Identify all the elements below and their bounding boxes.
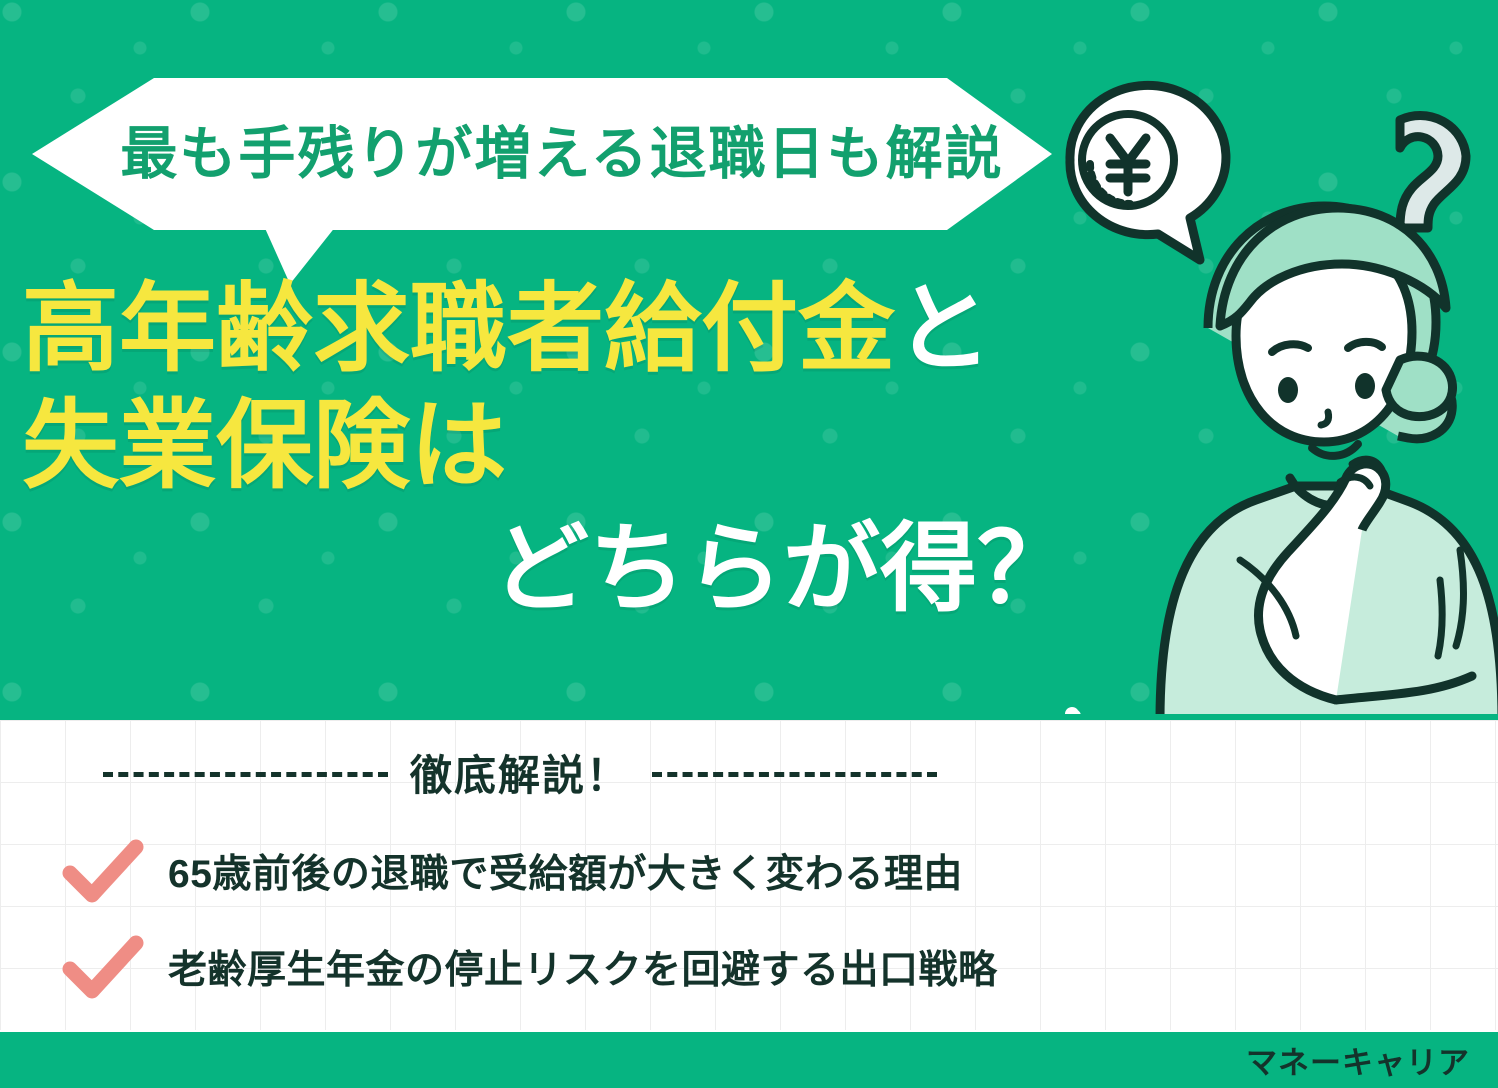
brand-logo: マネーキャリア — [1246, 1038, 1470, 1083]
list-item-label: 老齢厚生年金の停止リスクを回避する出口戦略 — [168, 939, 998, 995]
highlights-panel: 徹底解説！ 65歳前後の退職で受給額が大きく変わる理由 老齢厚生年金の停止リスク… — [0, 720, 1498, 1030]
main-title: 高年齢求職者給付金と 失業保険は どちらが得？ — [22, 278, 1202, 620]
dashed-line-right — [652, 772, 937, 777]
list-item-label: 65歳前後の退職で受給額が大きく変わる理由 — [168, 843, 963, 899]
list-item: 65歳前後の退職で受給額が大きく変わる理由 — [60, 830, 1020, 912]
section-heading: 徹底解説！ — [410, 742, 630, 803]
check-icon — [60, 839, 144, 903]
dashed-line-left — [103, 772, 388, 777]
section-heading-row: 徹底解説！ — [0, 744, 1040, 800]
list-item: 老齢厚生年金の停止リスクを回避する出口戦略 — [60, 926, 1020, 1008]
title-line-1-white: と — [895, 274, 992, 383]
title-line-1-yellow: 高年齢求職者給付金 — [22, 274, 895, 383]
title-line-2: 失業保険は — [22, 395, 1202, 498]
yen-coin-icon — [1070, 85, 1226, 260]
check-icon — [60, 935, 144, 999]
hero-section: 最も手残りが増える退職日も解説 高年齢求職者給付金と 失業保険は どちらが得？ — [0, 0, 1498, 718]
speech-bubble-text: 最も手残りが増える退職日も解説 — [80, 126, 1003, 183]
bullet-list: 65歳前後の退職で受給額が大きく変わる理由 老齢厚生年金の停止リスクを回避する出… — [60, 830, 1020, 1022]
thinking-woman-illustration — [1040, 60, 1498, 718]
title-line-3: どちらが得？ — [22, 518, 1202, 621]
title-line-1: 高年齢求職者給付金と — [22, 278, 1202, 381]
speech-bubble-banner: 最も手残りが増える退職日も解説 — [32, 78, 1052, 230]
footer-bar: マネーキャリア — [0, 1032, 1498, 1088]
thumbnail-canvas: 最も手残りが増える退職日も解説 高年齢求職者給付金と 失業保険は どちらが得？ — [0, 0, 1498, 1088]
